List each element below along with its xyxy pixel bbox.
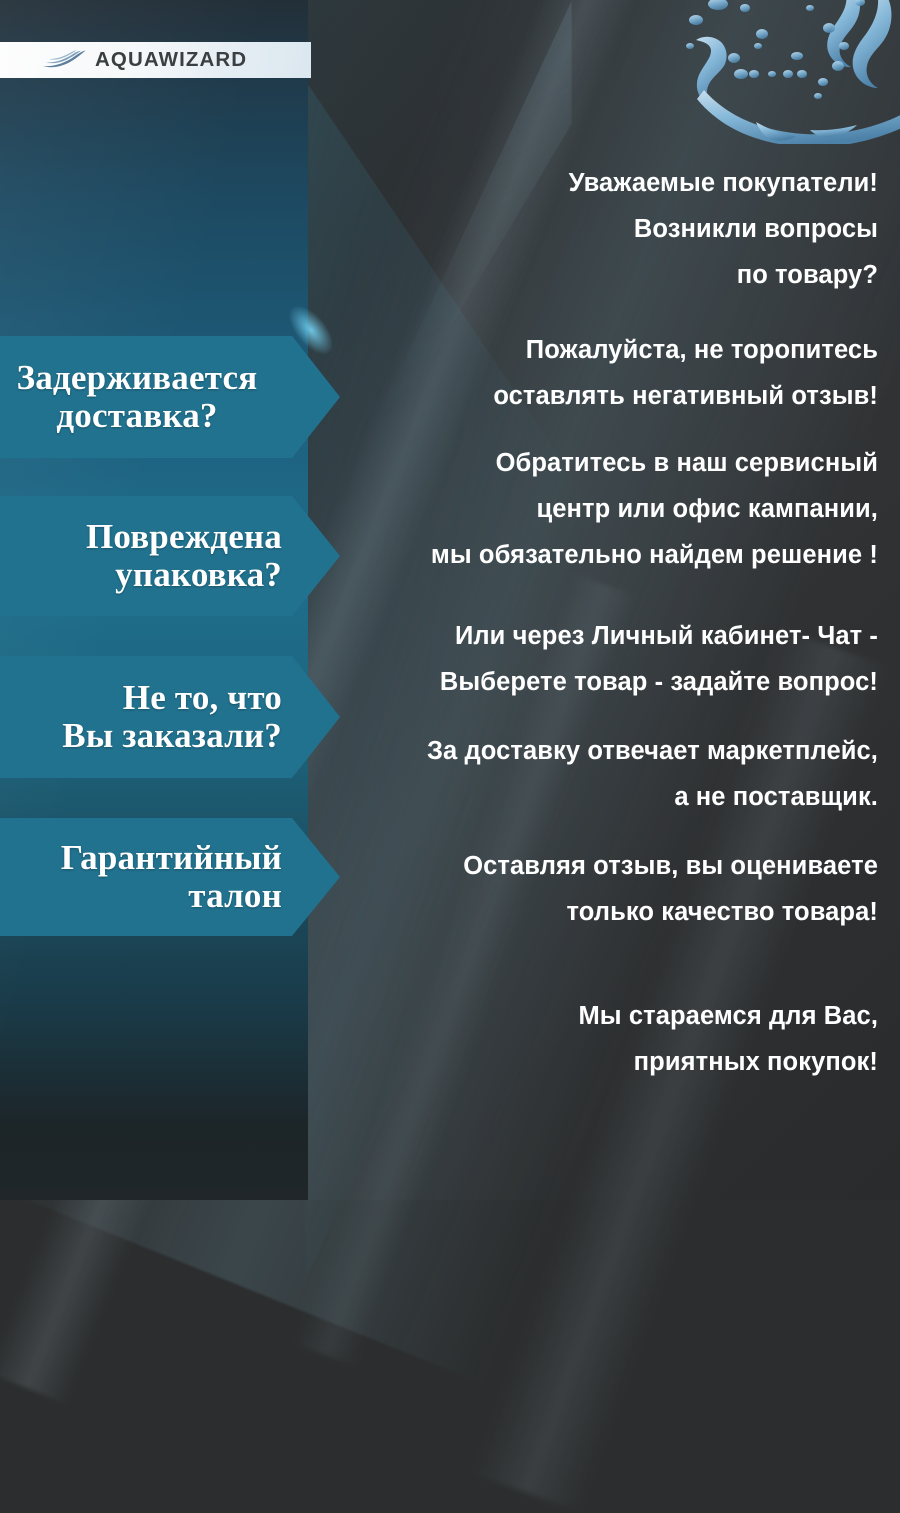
- water-wave-icon: [42, 49, 86, 71]
- paragraph-greeting: Уважаемые покупатели! Возникли вопросы п…: [569, 160, 878, 298]
- paragraph-line: по товару?: [569, 252, 878, 298]
- brand-wordmark: AQUAWIZARD: [95, 48, 247, 72]
- banner-line: Не то, что: [0, 679, 282, 717]
- paragraph-line: Уважаемые покупатели!: [569, 160, 878, 206]
- banner-line: талон: [0, 877, 282, 915]
- paragraph-line: Или через Личный кабинет- Чат -: [440, 613, 878, 659]
- banner-line: Гарантийный: [0, 839, 282, 877]
- banner-text: Гарантийный талон: [0, 839, 282, 915]
- paragraph-line: центр или офис кампании,: [431, 486, 878, 532]
- banner-line: Вы заказали?: [0, 717, 282, 755]
- paragraph-line: Мы стараемся для Вас,: [578, 993, 878, 1039]
- paragraph-dont-rush: Пожалуйста, не торопитесь оставлять нега…: [493, 327, 878, 419]
- paragraph-line: Пожалуйста, не торопитесь: [493, 327, 878, 373]
- paragraph-line: приятных покупок!: [578, 1039, 878, 1085]
- paragraph-review-scope: Оставляя отзыв, вы оцениваете только кач…: [463, 843, 878, 935]
- banner-line: доставка?: [0, 397, 282, 435]
- banner-line: упаковка?: [0, 556, 282, 594]
- banner-warranty-card[interactable]: Гарантийный талон: [0, 818, 340, 936]
- paragraph-line: только качество товара!: [463, 889, 878, 935]
- paragraph-line: Выберете товар - задайте вопрос!: [440, 659, 878, 705]
- banner-text: Повреждена упаковка?: [0, 518, 282, 594]
- banner-wrong-item[interactable]: Не то, что Вы заказали?: [0, 656, 340, 778]
- banner-text: Задерживается доставка?: [0, 359, 282, 435]
- message-column: Уважаемые покупатели! Возникли вопросы п…: [330, 0, 900, 1200]
- paragraph-line: Возникли вопросы: [569, 206, 878, 252]
- paragraph-line: а не поставщик.: [427, 774, 878, 820]
- brand-logo: AQUAWIZARD: [0, 42, 311, 78]
- paragraph-line: Обратитесь в наш сервисный: [431, 440, 878, 486]
- paragraph-line: оставлять негативный отзыв!: [493, 373, 878, 419]
- paragraph-contact-service: Обратитесь в наш сервисный центр или офи…: [431, 440, 878, 578]
- paragraph-delivery-responsibility: За доставку отвечает маркетплейс, а не п…: [427, 728, 878, 820]
- paragraph-line: мы обязательно найдем решение !: [431, 532, 878, 578]
- paragraph-line: Оставляя отзыв, вы оцениваете: [463, 843, 878, 889]
- banner-line: Повреждена: [0, 518, 282, 556]
- paragraph-line: За доставку отвечает маркетплейс,: [427, 728, 878, 774]
- banner-line: Задерживается: [0, 359, 282, 397]
- paragraph-chat-route: Или через Личный кабинет- Чат - Выберете…: [440, 613, 878, 705]
- banner-text: Не то, что Вы заказали?: [0, 679, 282, 755]
- paragraph-closing: Мы стараемся для Вас, приятных покупок!: [578, 993, 878, 1085]
- banner-damaged-packaging[interactable]: Повреждена упаковка?: [0, 496, 340, 616]
- banner-delivery-delayed[interactable]: Задерживается доставка?: [0, 336, 340, 458]
